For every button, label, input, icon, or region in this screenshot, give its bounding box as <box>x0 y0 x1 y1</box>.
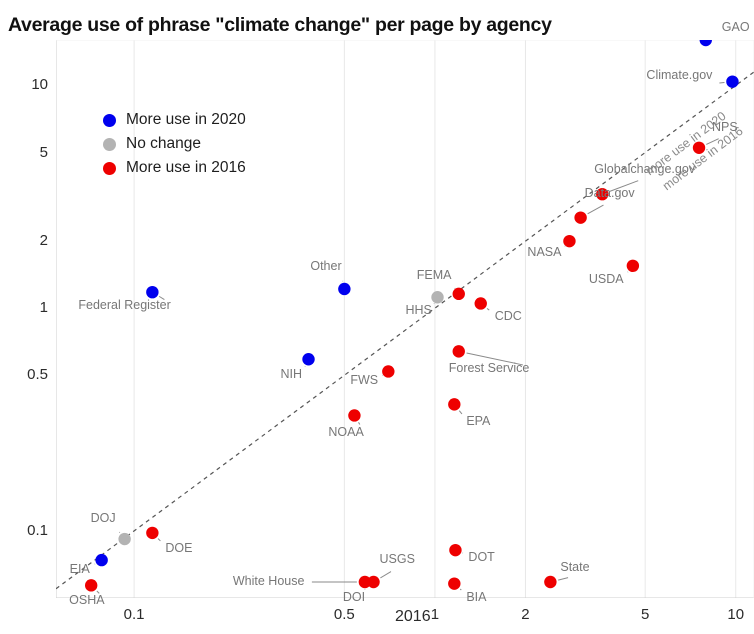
data-point-cdc[interactable] <box>475 297 487 309</box>
data-point-other[interactable] <box>338 283 350 295</box>
data-point-eia[interactable] <box>95 554 107 566</box>
x-tick-label: 10 <box>706 606 754 623</box>
point-label-dot: DOT <box>468 550 494 564</box>
data-point-bia[interactable] <box>448 577 460 589</box>
label-leader-line <box>158 539 160 541</box>
point-label-nih: NIH <box>281 367 303 381</box>
chart-root: Average use of phrase "climate change" p… <box>0 0 754 634</box>
point-label-doe: DOE <box>165 541 192 555</box>
point-label-fema: FEMA <box>417 268 452 282</box>
point-label-hhs: HHS <box>406 303 432 317</box>
label-leader-line <box>487 308 489 310</box>
point-label-data-gov: Data.gov <box>585 186 635 200</box>
data-point-usgs[interactable] <box>367 576 379 588</box>
label-leader-line <box>359 422 360 424</box>
data-point-hhs[interactable] <box>431 291 443 303</box>
point-label-white-house: White House <box>233 574 305 588</box>
y-tick-label: 5 <box>0 144 48 161</box>
data-point-doe[interactable] <box>146 527 158 539</box>
point-label-eia: EIA <box>70 562 90 576</box>
x-tick-label: 0.5 <box>314 606 374 623</box>
y-tick-label: 0.5 <box>0 366 48 383</box>
x-tick-label: 1 <box>405 606 465 623</box>
point-label-nasa: NASA <box>527 245 561 259</box>
data-point-dot[interactable] <box>449 544 461 556</box>
y-tick-label: 2 <box>0 232 48 249</box>
point-label-usgs: USGS <box>380 552 415 566</box>
legend-label-1: No change <box>126 135 201 153</box>
x-tick-label: 5 <box>615 606 675 623</box>
data-point-fema[interactable] <box>453 288 465 300</box>
data-point-usda[interactable] <box>627 260 639 272</box>
data-point-state[interactable] <box>544 576 556 588</box>
legend-swatch-1[interactable] <box>103 138 116 151</box>
point-label-state: State <box>560 560 589 574</box>
data-point-gao[interactable] <box>700 40 712 46</box>
data-point-epa[interactable] <box>448 398 460 410</box>
point-label-cdc: CDC <box>495 309 522 323</box>
point-label-bia: BIA <box>466 590 486 604</box>
data-point-data-gov[interactable] <box>574 211 586 223</box>
point-label-osha: OSHA <box>69 593 104 607</box>
data-point-climate-gov[interactable] <box>726 75 738 87</box>
label-leader-line <box>460 589 461 590</box>
x-tick-label: 0.1 <box>104 606 164 623</box>
data-point-forest-service[interactable] <box>453 345 465 357</box>
point-label-other: Other <box>310 259 341 273</box>
point-label-federal-register: Federal Register <box>78 298 170 312</box>
x-tick-label: 2 <box>495 606 555 623</box>
legend-label-0: More use in 2020 <box>126 111 246 129</box>
data-point-nasa[interactable] <box>563 235 575 247</box>
data-point-noaa[interactable] <box>348 409 360 421</box>
point-label-doj: DOJ <box>91 511 116 525</box>
point-label-epa: EPA <box>466 414 490 428</box>
y-tick-label: 1 <box>0 299 48 316</box>
label-leader-line <box>459 411 462 414</box>
data-point-doj[interactable] <box>118 533 130 545</box>
legend-swatch-0[interactable] <box>103 114 116 127</box>
point-label-climate-gov: Climate.gov <box>646 68 712 82</box>
y-tick-label: 0.1 <box>0 522 48 539</box>
data-point-federal-register[interactable] <box>146 286 158 298</box>
point-label-gao: GAO <box>722 20 750 34</box>
label-leader-line <box>558 578 568 580</box>
point-label-fws: FWS <box>350 373 378 387</box>
legend-label-2: More use in 2016 <box>126 159 246 177</box>
label-leader-line <box>719 82 724 83</box>
legend-swatch-2[interactable] <box>103 162 116 175</box>
data-point-osha[interactable] <box>85 579 97 591</box>
label-leader-line <box>588 205 604 214</box>
label-leader-line <box>380 572 391 578</box>
point-label-forest-service: Forest Service <box>449 361 530 375</box>
y-tick-label: 10 <box>0 76 48 93</box>
point-label-noaa: NOAA <box>328 425 363 439</box>
data-point-nih[interactable] <box>302 353 314 365</box>
point-label-doi: DOI <box>343 590 365 604</box>
point-label-usda: USDA <box>589 272 624 286</box>
data-point-fws[interactable] <box>382 365 394 377</box>
chart-title: Average use of phrase "climate change" p… <box>8 14 552 37</box>
